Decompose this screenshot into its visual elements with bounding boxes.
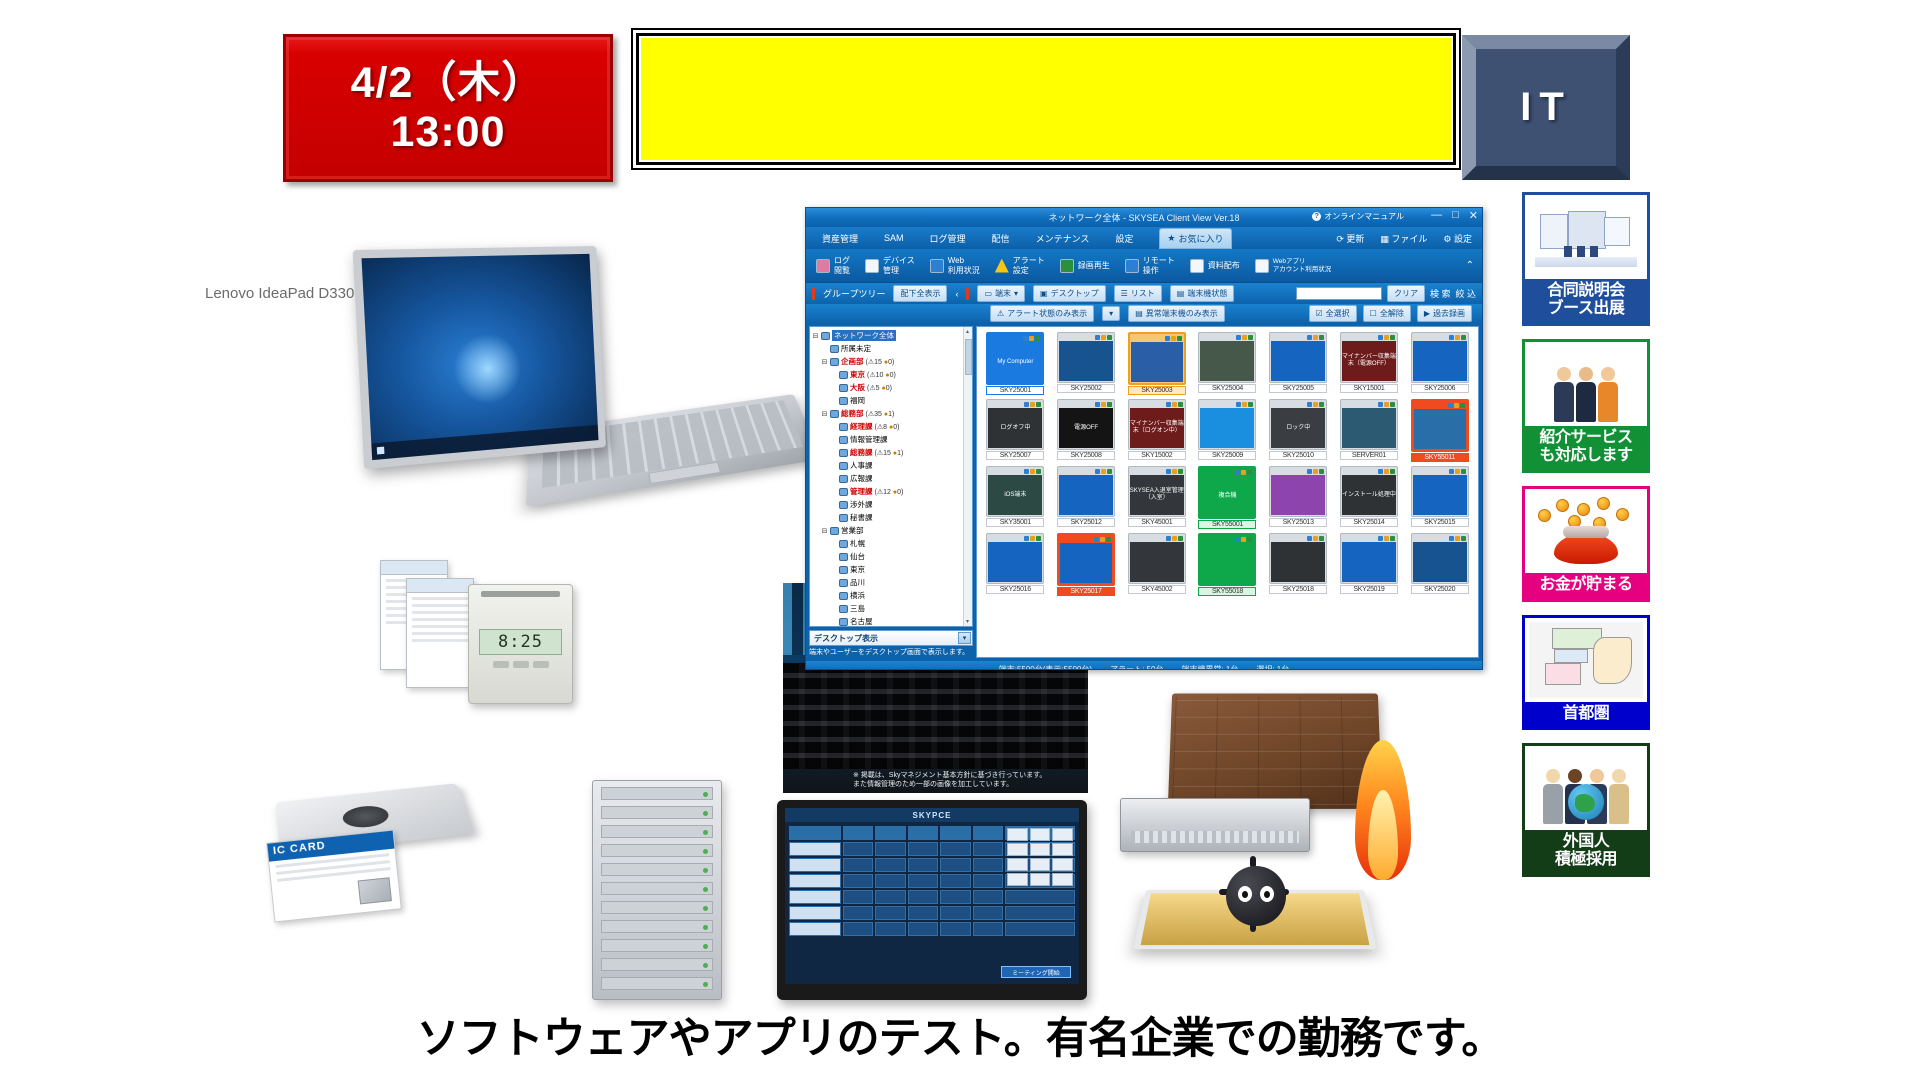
- tree-node-label: ネットワーク全体: [832, 330, 896, 341]
- group-tree[interactable]: ⊟ネットワーク全体所属未定⊟企画部(⚠15 ●0)東京(⚠10 ●0)大阪(⚠5…: [809, 326, 973, 627]
- filter-bar-row2[interactable]: ⚠ アラート状態のみ表示 ▾ ▤ 異常端末機のみ表示 ☑ 全選択 ☐ 全解除 ▶…: [806, 304, 1482, 323]
- conference-disclaimer: ※ 掲載は、Skyマネジメント基本方針に基づき行っています。 また情報管理のため…: [783, 771, 1088, 789]
- online-manual-link[interactable]: ? オンラインマニュアル: [1312, 211, 1404, 222]
- status-bar: 端末:5500台(表示:5500台) アラート: 50台 端末機異常: 1台 選…: [806, 661, 1482, 670]
- badge-referral-service: 紹介サービス も対応します: [1522, 339, 1650, 473]
- terminal-screen-preview: [1271, 341, 1325, 381]
- terminal-tile[interactable]: SKY25018: [1265, 533, 1332, 596]
- terminal-tile[interactable]: iOS端末SKY35001: [982, 466, 1049, 529]
- coins-purse-illustration: [1525, 489, 1647, 573]
- tree-node-counts: (⚠15 ●0): [866, 358, 895, 366]
- chevron-down-icon[interactable]: ▾: [958, 632, 971, 644]
- terminal-id-label: SKY25001: [986, 386, 1044, 395]
- terminal-tile[interactable]: SKY45002: [1123, 533, 1190, 596]
- group-tree-panel[interactable]: ⊟ネットワーク全体所属未定⊟企画部(⚠15 ●0)東京(⚠10 ●0)大阪(⚠5…: [806, 323, 976, 661]
- terminal-thumbnail[interactable]: [1128, 332, 1186, 385]
- tree-expander-icon[interactable]: ⊟: [812, 332, 819, 340]
- terminal-screen-preview: [1342, 408, 1396, 448]
- terminal-thumbnail[interactable]: [1057, 466, 1115, 517]
- tree-node[interactable]: 名古屋: [812, 615, 972, 627]
- toolbar-web-usage[interactable]: Web利用状況: [930, 256, 980, 274]
- terminal-thumbnail[interactable]: ログオフ中: [986, 399, 1044, 450]
- terminal-screen-preview: iOS端末: [988, 475, 1042, 515]
- tree-node[interactable]: 仙台: [812, 550, 972, 563]
- device-management-icon: [865, 259, 879, 273]
- tree-node-counts: (⚠35 ●1): [866, 410, 895, 418]
- filter-bar-row1[interactable]: グループツリー 配下全表示 ‹ ▭ 端末 ▾ ▣ デスクトップ ☰ リスト ▤ …: [806, 283, 1482, 304]
- status-terminal-count: 端末:5500台(表示:5500台): [999, 664, 1092, 671]
- tree-node[interactable]: 総務課(⚠15 ●1): [812, 446, 972, 459]
- ic-card-reader-photo: IC CARD: [278, 770, 508, 900]
- group-folder-icon: [839, 566, 848, 574]
- terminal-screen-preview: インストール処理中: [1342, 475, 1396, 515]
- terminal-id-label: SKY25004: [1198, 384, 1256, 393]
- terminal-status-icons: [1131, 335, 1183, 342]
- terminal-tile[interactable]: SKY25019: [1336, 533, 1403, 596]
- skypce-title: SKYPCE: [785, 808, 1079, 822]
- terminal-thumbnail[interactable]: [1411, 466, 1469, 517]
- search-input[interactable]: [1296, 287, 1382, 300]
- terminal-tile[interactable]: SERVER01: [1336, 399, 1403, 462]
- terminal-status-icons: [1059, 401, 1113, 408]
- terminal-status-icons: [1271, 334, 1325, 341]
- status-alert-count: アラート: 50台: [1110, 664, 1163, 671]
- terminal-tile[interactable]: SKY25012: [1053, 466, 1120, 529]
- group-folder-icon: [839, 488, 848, 496]
- terminal-screen-preview: [1413, 475, 1467, 515]
- tree-node-counts: (⚠5 ●0): [867, 384, 892, 392]
- terminal-tile[interactable]: 複合機SKY55001: [1194, 466, 1261, 529]
- window-controls[interactable]: — □ ✕: [1431, 209, 1478, 222]
- select-all-button[interactable]: ☑ 全選択: [1309, 305, 1357, 322]
- terminal-thumbnail[interactable]: ロック中: [1269, 399, 1327, 450]
- terminal-screen-preview: My Computer: [989, 342, 1041, 382]
- terminal-thumbnail[interactable]: [986, 533, 1044, 584]
- tree-node[interactable]: ⊟営業部: [812, 524, 972, 537]
- terminal-tile[interactable]: SKY25015: [1406, 466, 1473, 529]
- toolbar-device-management[interactable]: デバイス管理: [865, 256, 915, 274]
- help-icon: ?: [1312, 212, 1321, 221]
- badge-save-money: お金が貯まる: [1522, 486, 1650, 602]
- alert-warning-icon: [995, 259, 1009, 273]
- terminal-thumbnail[interactable]: [1269, 332, 1327, 383]
- tree-node[interactable]: 管理課(⚠12 ●0): [812, 485, 972, 498]
- tree-node[interactable]: ⊟ネットワーク全体: [812, 329, 972, 342]
- tree-node-label: 秘書課: [850, 512, 873, 523]
- globe-people-illustration: [1525, 746, 1647, 830]
- footer-caption: ソフトウェアやアプリのテスト。有名企業での勤務です。: [0, 1004, 1920, 1066]
- terminal-tile[interactable]: My ComputerSKY25001: [982, 332, 1049, 395]
- collapse-left-chevron-icon[interactable]: ‹: [955, 289, 958, 299]
- terminal-id-label: SKY25009: [1198, 451, 1256, 460]
- terminal-status-icons: [1201, 536, 1253, 543]
- terminal-thumbnail[interactable]: SKYSEA入退室管理（入室）: [1128, 466, 1186, 517]
- terminal-screen-preview: [1131, 342, 1183, 382]
- terminal-thumbnail[interactable]: [1411, 399, 1469, 452]
- tree-node[interactable]: 渉外課: [812, 498, 972, 511]
- document-distribution-icon: [1190, 259, 1204, 273]
- tree-node[interactable]: 東京(⚠10 ●0): [812, 368, 972, 381]
- webapp-account-icon: [1255, 259, 1269, 273]
- star-icon: ★: [1167, 233, 1175, 244]
- badge-joint-briefing: 合同説明会 ブース出展: [1522, 192, 1650, 326]
- terminal-tile[interactable]: SKY25009: [1194, 399, 1261, 462]
- security-appliance: [1120, 798, 1310, 852]
- terminal-status-icons: [989, 335, 1041, 342]
- terminal-status-icons: [1342, 334, 1396, 341]
- tab-desktop[interactable]: ▣ デスクトップ: [1033, 285, 1106, 302]
- menu-tab-favorites[interactable]: ★ お気に入り: [1159, 228, 1231, 249]
- filter-alert-only[interactable]: ⚠ アラート状態のみ表示: [990, 305, 1094, 322]
- booth-illustration: [1525, 195, 1647, 279]
- tree-node[interactable]: 経理課(⚠8 ●0): [812, 420, 972, 433]
- terminal-tile[interactable]: SKYSEA入退室管理（入室）SKY45001: [1123, 466, 1190, 529]
- terminal-tile[interactable]: SKY25003: [1123, 332, 1190, 395]
- toolbar-document-distribution[interactable]: 資料配布: [1190, 259, 1240, 273]
- terminal-tile[interactable]: SKY25016: [982, 533, 1049, 596]
- terminal-status-icons: [1271, 401, 1325, 408]
- web-usage-icon: [930, 259, 944, 273]
- ic-card: IC CARD: [266, 830, 402, 923]
- tree-node-label: 東京: [850, 564, 865, 575]
- menu-item-maintenance[interactable]: メンテナンス: [1036, 232, 1090, 245]
- menu-item-distribute[interactable]: 配信: [992, 232, 1010, 245]
- remote-operation-icon: [1125, 259, 1139, 273]
- badge-caption: 外国人 積極採用: [1525, 830, 1647, 874]
- terminal-thumbnail[interactable]: iOS端末: [986, 466, 1044, 517]
- tree-node-label: 総務課: [850, 447, 873, 458]
- terminal-screen-preview: [1201, 543, 1253, 583]
- search-clear-button[interactable]: クリア: [1387, 285, 1425, 302]
- terminal-screen-preview: ログオフ中: [988, 408, 1042, 448]
- tree-node-label: 横浜: [850, 590, 865, 601]
- terminal-status-icons: [1414, 402, 1466, 409]
- terminal-screen-preview: [1200, 408, 1254, 448]
- terminal-tile[interactable]: SKY25020: [1406, 533, 1473, 596]
- group-folder-icon: [839, 553, 848, 561]
- terminal-thumbnail[interactable]: [1198, 533, 1256, 586]
- group-folder-icon: [830, 345, 839, 353]
- tree-node-label: 大阪: [850, 382, 865, 393]
- menu-settings-button[interactable]: ⚙ 設定: [1443, 232, 1472, 245]
- terminal-status-icons: [1060, 536, 1112, 543]
- terminal-status-icons: [1130, 401, 1184, 408]
- terminal-status-icons: [1342, 401, 1396, 408]
- terminal-id-label: SKY55018: [1198, 587, 1256, 596]
- terminal-id-label: SKY45002: [1128, 585, 1186, 594]
- terminal-screen-preview: SKYSEA入退室管理（入室）: [1130, 475, 1184, 515]
- badge-caption: お金が貯まる: [1525, 573, 1647, 599]
- main-body: ⊟ネットワーク全体所属未定⊟企画部(⚠15 ●0)東京(⚠10 ●0)大阪(⚠5…: [806, 323, 1482, 661]
- playback-icon: [1060, 259, 1074, 273]
- tree-node-label: 営業部: [841, 525, 864, 536]
- terminal-status-icons: [1342, 535, 1396, 542]
- terminal-tile[interactable]: SKY25013: [1265, 466, 1332, 529]
- tree-node[interactable]: 東京: [812, 563, 972, 576]
- minimize-icon[interactable]: —: [1431, 209, 1442, 222]
- ic-chip-icon: [358, 877, 392, 904]
- badge-column: 合同説明会 ブース出展 紹介サービス も対応します: [1522, 192, 1650, 890]
- virus-icon: [1218, 858, 1294, 934]
- menu-item-settings[interactable]: 設定: [1115, 232, 1133, 245]
- terminal-screen-preview: [1130, 542, 1184, 582]
- terminal-id-label: SKY25005: [1269, 384, 1327, 393]
- deselect-all-button[interactable]: ☐ 全解除: [1363, 305, 1411, 322]
- terminal-screen-preview: マイナンバー収集端末（電源OFF）: [1342, 341, 1396, 381]
- tree-node-label: 仙台: [850, 551, 865, 562]
- terminal-screen-preview: [1342, 542, 1396, 582]
- tree-node[interactable]: 情報管理課: [812, 433, 972, 446]
- terminal-thumbnail[interactable]: [1198, 332, 1256, 383]
- terminal-thumbnail[interactable]: [1340, 533, 1398, 584]
- tree-expander-icon[interactable]: ⊟: [821, 527, 828, 535]
- badge-caption: 合同説明会 ブース出展: [1525, 279, 1647, 323]
- people-illustration: [1525, 342, 1647, 426]
- terminal-screen-preview: 電源OFF: [1059, 408, 1113, 448]
- tree-node-label: 情報管理課: [850, 434, 888, 445]
- tree-node[interactable]: 広報課: [812, 472, 972, 485]
- terminal-status-icons: [988, 535, 1042, 542]
- tree-node[interactable]: 品川: [812, 576, 972, 589]
- search-narrow-button[interactable]: 絞 込: [1455, 287, 1476, 300]
- terminal-tile[interactable]: SKY25006: [1406, 332, 1473, 395]
- tree-node-counts: (⚠8 ●0): [875, 423, 900, 431]
- terminal-screen-preview: マイナンバー収集端末（ログオン中）: [1130, 408, 1184, 448]
- chevron-down-icon[interactable]: ▾: [1014, 289, 1018, 298]
- terminal-tile[interactable]: マイナンバー収集端末（ログオン中）SKY15002: [1123, 399, 1190, 462]
- terminal-tile[interactable]: SKY25004: [1194, 332, 1261, 395]
- terminal-thumbnail[interactable]: [1057, 533, 1115, 586]
- server-rack-photo: [592, 780, 722, 1000]
- skypce-keypad[interactable]: [1007, 828, 1073, 886]
- toolbar-recording-playback[interactable]: 録画再生: [1060, 259, 1110, 273]
- desktop-view-note: 端末やユーザーをデスクトップ画面で表示します。: [809, 649, 973, 658]
- filter-alert-dropdown[interactable]: ▾: [1102, 306, 1120, 321]
- terminal-screen-preview: [988, 542, 1042, 582]
- terminal-thumbnail[interactable]: My Computer: [986, 332, 1044, 385]
- ribbon-toolbar[interactable]: ログ閲覧 デバイス管理 Web利用状況 アラート設定 録画再生 リモート操作: [806, 249, 1482, 283]
- terminal-status-icons: [1200, 401, 1254, 408]
- tab-terminal[interactable]: ▭ 端末 ▾: [977, 285, 1025, 302]
- laptop-photo: [360, 240, 780, 530]
- terminal-thumbnail[interactable]: [1269, 466, 1327, 517]
- log-view-icon: [816, 259, 830, 273]
- terminal-tile[interactable]: ロック中SKY25010: [1265, 399, 1332, 462]
- terminal-screen-preview: [1060, 543, 1112, 583]
- tree-node[interactable]: 所属未定: [812, 342, 972, 355]
- tab-terminal-status[interactable]: ▤ 端末機状態: [1170, 285, 1235, 302]
- terminal-id-label: SKY25018: [1269, 585, 1327, 594]
- terminal-thumbnail[interactable]: [1340, 399, 1398, 450]
- clock-display: 8:25: [479, 629, 562, 655]
- terminal-id-label: SKY35001: [986, 518, 1044, 527]
- terminal-id-label: SKY25008: [1057, 451, 1115, 460]
- terminal-tile[interactable]: SKY55011: [1406, 399, 1473, 462]
- timecard-photo: 8:25: [380, 560, 570, 720]
- skysea-client-view-window[interactable]: ネットワーク全体 - SKYSEA Client View Ver.18 ? オ…: [805, 207, 1483, 670]
- menu-refresh-button[interactable]: ⟳ 更新: [1336, 232, 1364, 245]
- terminal-id-label: SKY15001: [1340, 384, 1398, 393]
- skypce-device-photo: SKYPCE ミーティング開始: [777, 800, 1087, 1000]
- past-recording-button[interactable]: ▶ 過去録画: [1417, 305, 1472, 322]
- terminal-screen-preview: [1413, 341, 1467, 381]
- terminal-status-icons: [1271, 468, 1325, 475]
- terminal-id-label: SKY25020: [1411, 585, 1469, 594]
- terminal-screen-preview: 複合機: [1201, 476, 1253, 516]
- menu-item-log[interactable]: ログ管理: [930, 232, 966, 245]
- desktop-view-select[interactable]: デスクトップ表示 ▾: [809, 630, 973, 646]
- terminal-tile[interactable]: SKY25017: [1053, 533, 1120, 596]
- terminal-tile[interactable]: インストール処理中SKY25014: [1336, 466, 1403, 529]
- tree-node-counts: (⚠15 ●1): [875, 449, 904, 457]
- terminal-screen-preview: [1200, 341, 1254, 381]
- badge-caption: 首都圏: [1525, 702, 1647, 728]
- terminal-thumbnail[interactable]: [1128, 533, 1186, 584]
- tree-node[interactable]: ⊟企画部(⚠15 ●0): [812, 355, 972, 368]
- timecard-2: [406, 578, 474, 688]
- terminal-thumbnail[interactable]: マイナンバー収集端末（ログオン中）: [1128, 399, 1186, 450]
- terminal-thumbnail[interactable]: マイナンバー収集端末（電源OFF）: [1340, 332, 1398, 383]
- filter-show-all-button[interactable]: 配下全表示: [893, 285, 947, 302]
- terminal-id-label: SKY25013: [1269, 518, 1327, 527]
- close-icon[interactable]: ✕: [1469, 209, 1478, 222]
- terminal-tile[interactable]: SKY25005: [1265, 332, 1332, 395]
- group-folder-icon: [839, 423, 848, 431]
- terminal-thumbnail[interactable]: [1198, 399, 1256, 450]
- window-title: ネットワーク全体 - SKYSEA Client View Ver.18: [1049, 211, 1240, 224]
- tree-node[interactable]: 福岡: [812, 394, 972, 407]
- tree-node[interactable]: 大阪(⚠5 ●0): [812, 381, 972, 394]
- tree-node-label: 管理課: [850, 486, 873, 497]
- tree-node-label: 札幌: [850, 538, 865, 549]
- status-abnormal-count: 端末機異常: 1台: [1181, 664, 1238, 671]
- terminal-id-label: SKY25014: [1340, 518, 1398, 527]
- tree-node[interactable]: 横浜: [812, 589, 972, 602]
- tree-node[interactable]: 秘書課: [812, 511, 972, 524]
- terminal-thumbnail[interactable]: [1411, 533, 1469, 584]
- tree-node[interactable]: 札幌: [812, 537, 972, 550]
- tree-node[interactable]: 三島: [812, 602, 972, 615]
- group-folder-icon: [839, 462, 848, 470]
- tree-node-label: 経理課: [850, 421, 873, 432]
- terminal-status-icons: [1201, 469, 1253, 476]
- tree-node-label: 三島: [850, 603, 865, 614]
- terminal-screen-preview: [1414, 409, 1466, 449]
- ribbon-collapse-chevron-up-icon[interactable]: ⌃: [1466, 260, 1482, 271]
- date-badge: 4/2（木） 13:00: [283, 34, 613, 182]
- terminal-screen-preview: ロック中: [1271, 408, 1325, 448]
- search-button[interactable]: 検 索: [1430, 287, 1451, 300]
- terminal-tile[interactable]: 電源OFFSKY25008: [1053, 399, 1120, 462]
- group-folder-icon: [839, 384, 848, 392]
- tree-node-label: 広報課: [850, 473, 873, 484]
- terminal-status-icons: [988, 401, 1042, 408]
- terminal-id-label: SKY25003: [1128, 386, 1186, 395]
- terminal-id-label: SKY25010: [1269, 451, 1327, 460]
- toolbar-webapp-account[interactable]: Webアプリアカウント利用状況: [1255, 258, 1332, 273]
- terminal-status-icons: [1271, 535, 1325, 542]
- terminal-thumbnail[interactable]: 複合機: [1198, 466, 1256, 519]
- menu-bar[interactable]: 資産管理 SAM ログ管理 配信 メンテナンス 設定 ★ お気に入り ⟳ 更新 …: [806, 227, 1482, 249]
- terminal-thumbnail[interactable]: [1411, 332, 1469, 383]
- group-folder-icon: [839, 592, 848, 600]
- menu-item-asset[interactable]: 資産管理: [822, 232, 858, 245]
- terminal-thumbnail[interactable]: 電源OFF: [1057, 399, 1115, 450]
- terminal-tile[interactable]: SKY55018: [1194, 533, 1261, 596]
- toolbar-alert-settings[interactable]: アラート設定: [995, 256, 1045, 274]
- tree-node[interactable]: 人事課: [812, 459, 972, 472]
- terminal-id-label: SKY25019: [1340, 585, 1398, 594]
- tree-expander-icon[interactable]: ⊟: [821, 358, 828, 366]
- kanto-map-illustration: [1525, 618, 1647, 702]
- terminal-screen-preview: [1271, 475, 1325, 515]
- terminal-id-label: SKY25012: [1057, 518, 1115, 527]
- tree-expander-icon[interactable]: ⊟: [821, 410, 828, 418]
- terminal-tile[interactable]: ログオフ中SKY25007: [982, 399, 1049, 462]
- toolbar-remote-operation[interactable]: リモート操作: [1125, 256, 1175, 274]
- accent-bar-2: [966, 288, 969, 300]
- menu-file-button[interactable]: ▦ ファイル: [1380, 232, 1427, 245]
- terminal-status-icons: [1130, 535, 1184, 542]
- it-category-key: IT: [1462, 35, 1630, 180]
- search-area[interactable]: クリア 検 索 絞 込: [1296, 285, 1476, 302]
- group-folder-icon: [839, 436, 848, 444]
- terminal-tile[interactable]: マイナンバー収集端末（電源OFF）SKY15001: [1336, 332, 1403, 395]
- terminal-status-icons: [1059, 334, 1113, 341]
- slide-canvas: 4/2（木） 13:00 IT 合同説明会 ブース出展: [0, 0, 1920, 1080]
- yellow-title-panel: [636, 33, 1456, 165]
- tree-node-counts: (⚠10 ●0): [867, 371, 896, 379]
- terminal-thumbnail[interactable]: [1057, 332, 1115, 383]
- terminal-thumbnail[interactable]: インストール処理中: [1340, 466, 1398, 517]
- group-folder-icon: [830, 410, 839, 418]
- maximize-icon[interactable]: □: [1452, 209, 1459, 222]
- terminal-id-label: SKY25002: [1057, 384, 1115, 393]
- terminal-thumbnail-area[interactable]: My ComputerSKY25001SKY25002SKY25003SKY25…: [976, 326, 1479, 658]
- terminal-tile[interactable]: SKY25002: [1053, 332, 1120, 395]
- group-folder-icon: [839, 605, 848, 613]
- it-key-label: IT: [1520, 85, 1572, 130]
- filter-abnormal-only[interactable]: ▤ 異常端末機のみ表示: [1128, 305, 1225, 322]
- terminal-id-label: SKY15002: [1128, 451, 1186, 460]
- toolbar-log-view[interactable]: ログ閲覧: [816, 256, 850, 274]
- skypce-start-meeting-button[interactable]: ミーティング開始: [1001, 966, 1071, 978]
- terminal-id-label: SKY45001: [1128, 518, 1186, 527]
- group-folder-icon: [839, 540, 848, 548]
- tree-node-label: 企画部: [841, 356, 864, 367]
- badge-caption: 紹介サービス も対応します: [1525, 426, 1647, 470]
- tree-node-label: 人事課: [850, 460, 873, 471]
- security-illustration: [1100, 690, 1430, 1000]
- group-folder-icon: [839, 371, 848, 379]
- tree-scrollbar[interactable]: ▴ ▾: [963, 327, 972, 626]
- terminal-id-label: SKY25006: [1411, 384, 1469, 393]
- group-folder-icon: [839, 449, 848, 457]
- tree-node-label: 福岡: [850, 395, 865, 406]
- filter-group-tree-label: グループツリー: [823, 287, 885, 300]
- status-selected-count: 選択: 1台: [1256, 664, 1289, 671]
- group-folder-icon: [839, 514, 848, 522]
- terminal-grid[interactable]: My ComputerSKY25001SKY25002SKY25003SKY25…: [977, 327, 1478, 601]
- terminal-thumbnail[interactable]: [1269, 533, 1327, 584]
- badge-capital-area: 首都圏: [1522, 615, 1650, 731]
- tree-node[interactable]: ⊟総務部(⚠35 ●1): [812, 407, 972, 420]
- terminal-screen-preview: [1271, 542, 1325, 582]
- tree-node-label: 所属未定: [841, 343, 871, 354]
- group-folder-icon: [830, 527, 839, 535]
- menu-item-sam[interactable]: SAM: [884, 233, 904, 243]
- tab-list[interactable]: ☰ リスト: [1114, 285, 1162, 302]
